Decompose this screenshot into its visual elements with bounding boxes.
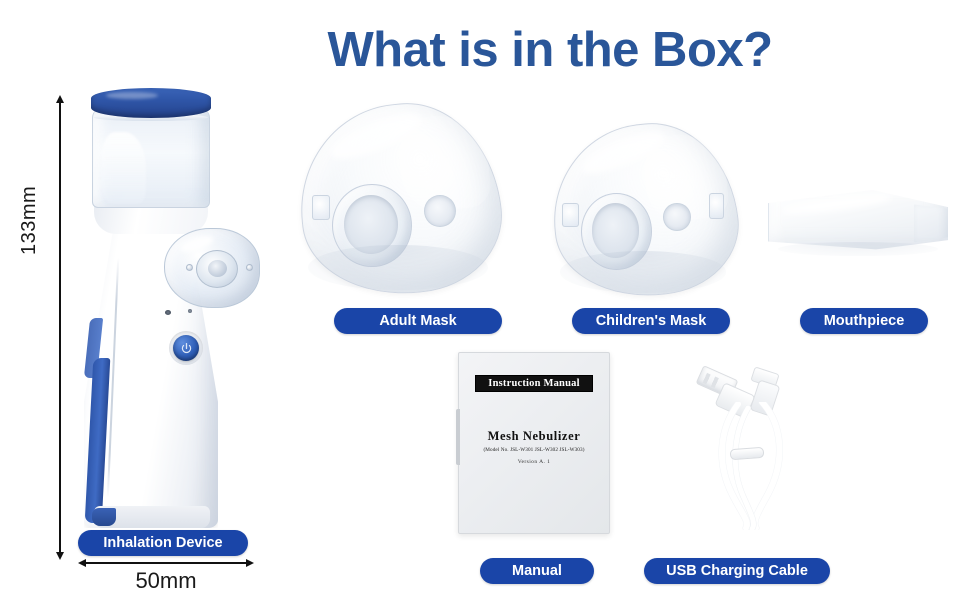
infographic-canvas: What is in the Box? 133mm — [0, 0, 970, 600]
manual-banner: Instruction Manual — [475, 375, 593, 392]
device-base-blue-accent — [92, 508, 116, 526]
label-mouthpiece: Mouthpiece — [800, 308, 928, 334]
manual-version: Version A. 1 — [459, 459, 609, 465]
device-screw-left — [186, 264, 193, 271]
mask-strap-clip-left — [312, 195, 330, 220]
mask-strap-clip-left — [562, 203, 579, 227]
mouthpiece-tip — [914, 202, 948, 244]
usb-cable-tie — [730, 447, 765, 460]
arrow-right-icon — [246, 559, 254, 567]
manual-product-title: Mesh Nebulizer — [459, 429, 609, 444]
mask-edge-shadow — [560, 251, 726, 292]
usb-cable-coil — [690, 402, 802, 530]
device-screw-right — [246, 264, 253, 271]
mask-connector-ring-inner — [592, 203, 640, 258]
manual-image: Instruction Manual Mesh Nebulizer (Model… — [458, 352, 610, 534]
usb-charging-cable-image — [690, 366, 802, 532]
children-mask-image — [553, 124, 737, 296]
device-cap-highlight — [106, 92, 158, 99]
arrow-down-icon — [56, 552, 64, 560]
label-manual: Manual — [480, 558, 594, 584]
manual-model-numbers: (Model No. JSL-W301 JSL-W302 JSL-W303) — [459, 447, 609, 453]
dimension-line — [59, 101, 61, 554]
power-icon — [180, 342, 193, 355]
device-nozzle-core — [208, 260, 227, 277]
device-chamber-liquid — [102, 132, 146, 204]
label-inhalation-device: Inhalation Device — [78, 530, 248, 556]
mask-strap-clip-right — [709, 193, 724, 219]
height-dimension-line — [59, 95, 61, 560]
label-adult-mask: Adult Mask — [334, 308, 502, 334]
page-title: What is in the Box? — [0, 22, 970, 78]
device-power-button[interactable] — [173, 335, 199, 361]
width-dimension-line — [78, 562, 254, 564]
label-usb-charging-cable: USB Charging Cable — [644, 558, 830, 584]
mouthpiece-image — [768, 178, 948, 264]
inhalation-device-image — [68, 88, 248, 528]
mask-vent-hole — [663, 203, 691, 231]
width-dimension-label: 50mm — [78, 568, 254, 594]
manual-banner-text: Instruction Manual — [488, 378, 579, 389]
dimension-line — [84, 562, 248, 564]
device-led-indicator-2 — [188, 309, 192, 313]
mouthpiece-shadow — [778, 242, 938, 256]
height-dimension-label: 133mm — [18, 186, 41, 255]
adult-mask-image — [300, 104, 500, 294]
device-led-indicator-1 — [165, 310, 171, 315]
mask-edge-shadow — [308, 245, 488, 291]
label-children-mask: Children's Mask — [572, 308, 730, 334]
